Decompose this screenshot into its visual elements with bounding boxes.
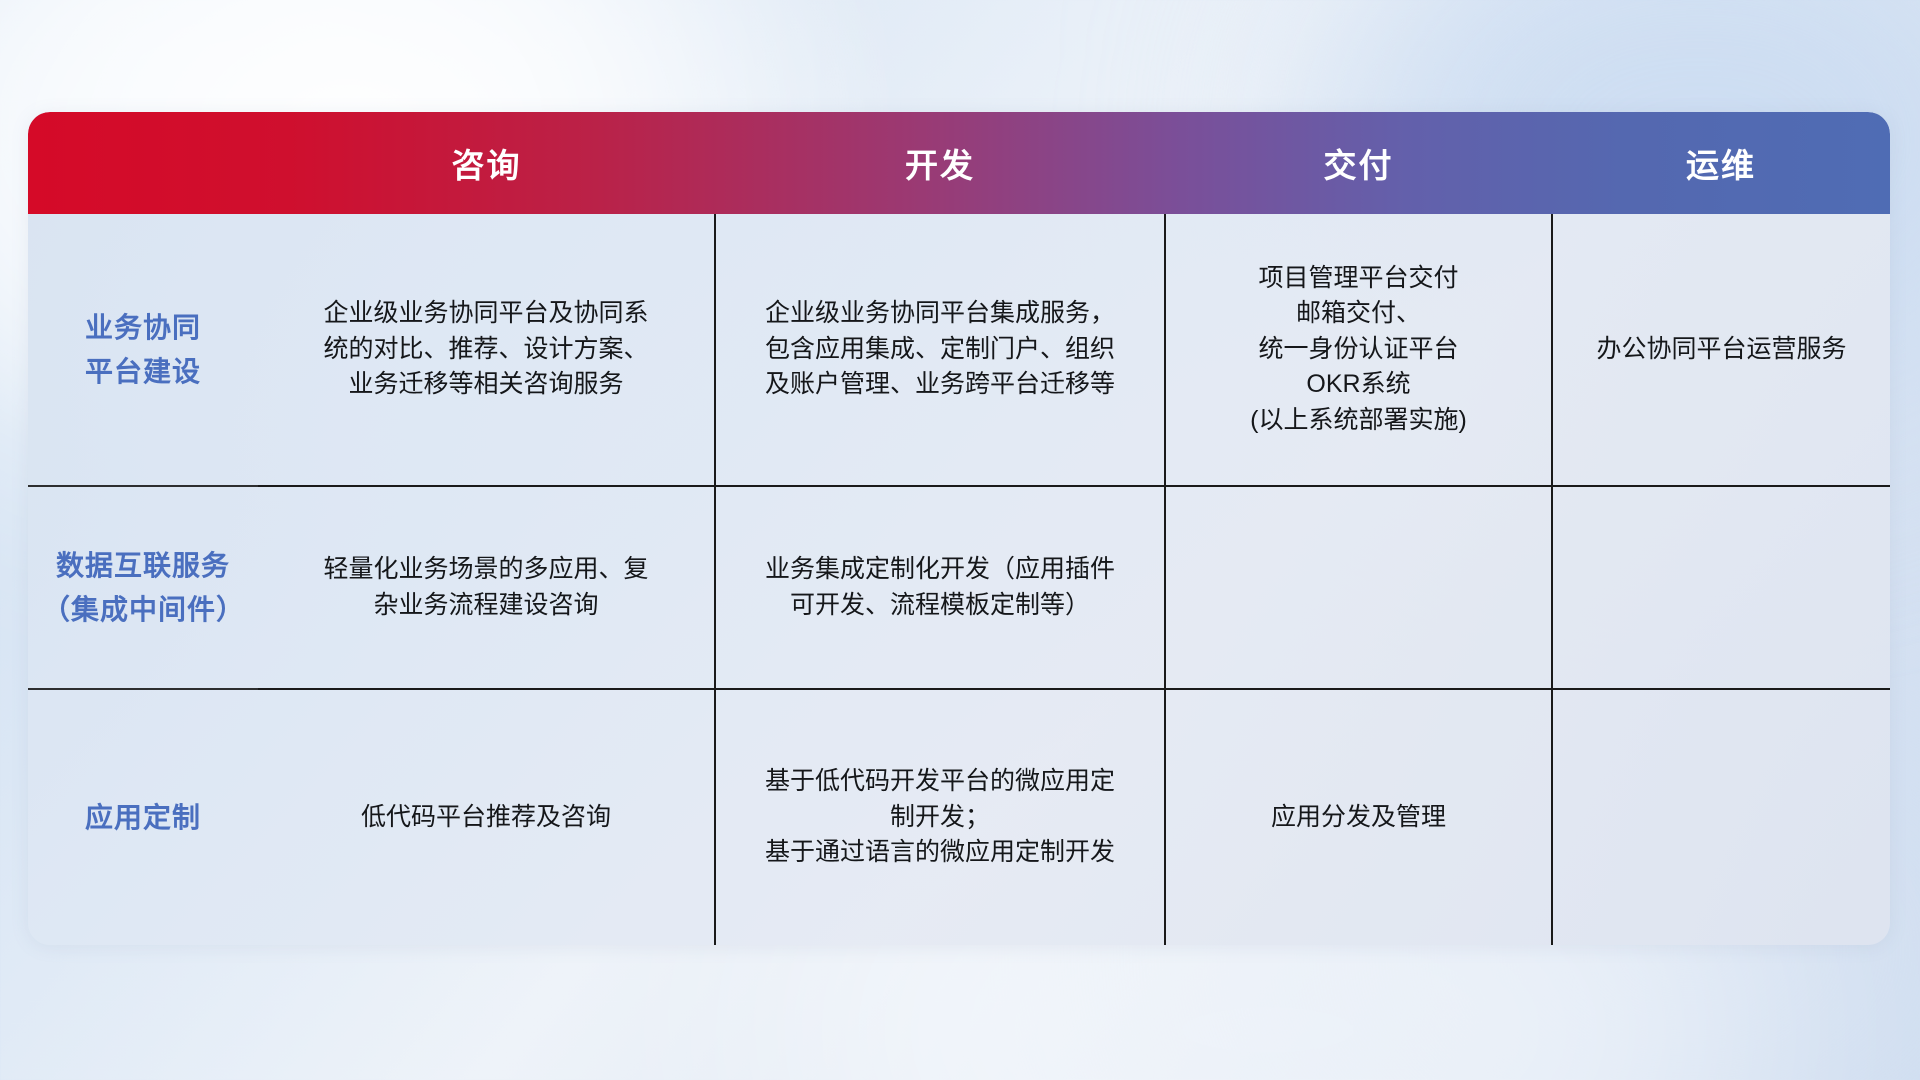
header-cell-delivery: 交付 — [1165, 112, 1552, 214]
service-matrix-table-container: 服务类别 咨询 开发 交付 运维 业务协同 平台建设 — [28, 112, 1890, 945]
cell-text-development: 基于低代码开发平台的微应用定 制开发； 基于通过语言的微应用定制开发 — [730, 764, 1150, 871]
cell-operations — [1552, 689, 1890, 945]
cell-text-development: 企业级业务协同平台集成服务， 包含应用集成、定制门户、组织 及账户管理、业务跨平… — [730, 296, 1150, 403]
cell-text-consulting: 轻量化业务场景的多应用、复 杂业务流程建设咨询 — [272, 552, 700, 623]
service-matrix-table: 服务类别 咨询 开发 交付 运维 业务协同 平台建设 — [28, 112, 1890, 945]
cell-text-delivery: 项目管理平台交付 邮箱交付、 统一身份认证平台 OKR系统 (以上系统部署实施) — [1180, 261, 1537, 439]
cell-delivery: 应用分发及管理 — [1165, 689, 1552, 945]
header-cell-operations: 运维 — [1552, 112, 1890, 214]
header-cell-service-category: 服务类别 — [28, 112, 258, 214]
header-label-delivery: 交付 — [1324, 147, 1394, 184]
cell-consulting: 企业级业务协同平台及协同系 统的对比、推荐、设计方案、 业务迁移等相关咨询服务 — [258, 214, 715, 486]
table-row: 业务协同 平台建设 企业级业务协同平台及协同系 统的对比、推荐、设计方案、 业务… — [28, 214, 1890, 486]
header-label-consulting: 咨询 — [452, 147, 522, 184]
row-category-label: 数据互联服务 （集成中间件） — [28, 486, 258, 689]
cell-development: 企业级业务协同平台集成服务， 包含应用集成、定制门户、组织 及账户管理、业务跨平… — [715, 214, 1165, 486]
row-category-label: 业务协同 平台建设 — [28, 214, 258, 486]
cell-delivery: 项目管理平台交付 邮箱交付、 统一身份认证平台 OKR系统 (以上系统部署实施) — [1165, 214, 1552, 486]
cell-consulting: 低代码平台推荐及咨询 — [258, 689, 715, 945]
header-label-development: 开发 — [905, 147, 975, 184]
cell-development: 业务集成定制化开发（应用插件 可开发、流程模板定制等） — [715, 486, 1165, 689]
cell-operations — [1552, 486, 1890, 689]
cell-text-delivery: 应用分发及管理 — [1180, 800, 1537, 836]
table-body: 业务协同 平台建设 企业级业务协同平台及协同系 统的对比、推荐、设计方案、 业务… — [28, 214, 1890, 945]
table-row: 数据互联服务 （集成中间件） 轻量化业务场景的多应用、复 杂业务流程建设咨询 业… — [28, 486, 1890, 689]
table-header: 服务类别 咨询 开发 交付 运维 — [28, 112, 1890, 214]
cell-delivery — [1165, 486, 1552, 689]
category-text: 数据互联服务 （集成中间件） — [42, 544, 244, 631]
category-text: 应用定制 — [42, 796, 244, 839]
row-category-label: 应用定制 — [28, 689, 258, 945]
cell-text-consulting: 企业级业务协同平台及协同系 统的对比、推荐、设计方案、 业务迁移等相关咨询服务 — [272, 296, 700, 403]
table-row: 应用定制 低代码平台推荐及咨询 基于低代码开发平台的微应用定 制开发； 基于通过… — [28, 689, 1890, 945]
header-cell-consulting: 咨询 — [258, 112, 715, 214]
header-label-operations: 运维 — [1686, 147, 1756, 184]
cell-text-operations: 办公协同平台运营服务 — [1567, 332, 1876, 368]
cell-text-consulting: 低代码平台推荐及咨询 — [272, 800, 700, 836]
category-text: 业务协同 平台建设 — [42, 306, 244, 393]
cell-consulting: 轻量化业务场景的多应用、复 杂业务流程建设咨询 — [258, 486, 715, 689]
header-row: 服务类别 咨询 开发 交付 运维 — [28, 112, 1890, 214]
header-cell-development: 开发 — [715, 112, 1165, 214]
cell-operations: 办公协同平台运营服务 — [1552, 214, 1890, 486]
cell-development: 基于低代码开发平台的微应用定 制开发； 基于通过语言的微应用定制开发 — [715, 689, 1165, 945]
cell-text-development: 业务集成定制化开发（应用插件 可开发、流程模板定制等） — [730, 552, 1150, 623]
